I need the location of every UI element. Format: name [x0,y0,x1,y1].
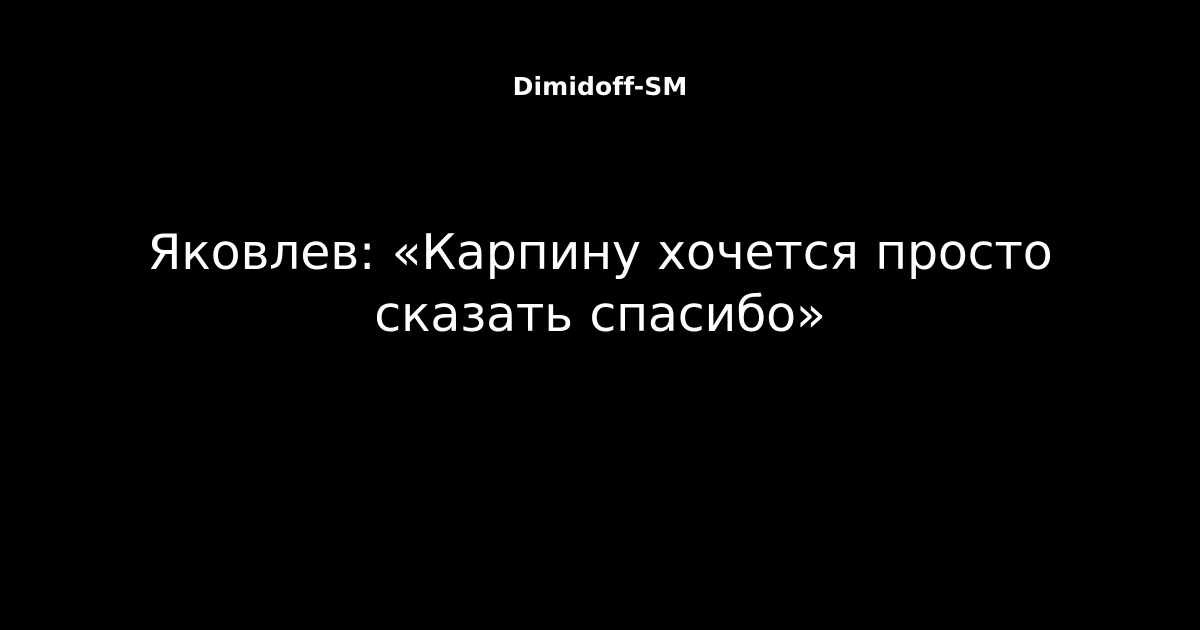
page-title: Яковлев: «Карпину хочется просто сказать… [60,222,1140,346]
site-name-label: Dimidoff-SM [0,72,1200,102]
headline-block: Яковлев: «Карпину хочется просто сказать… [60,222,1140,346]
social-share-card: Dimidoff-SM Яковлев: «Карпину хочется пр… [0,0,1200,630]
card-empty-area [0,400,1200,630]
